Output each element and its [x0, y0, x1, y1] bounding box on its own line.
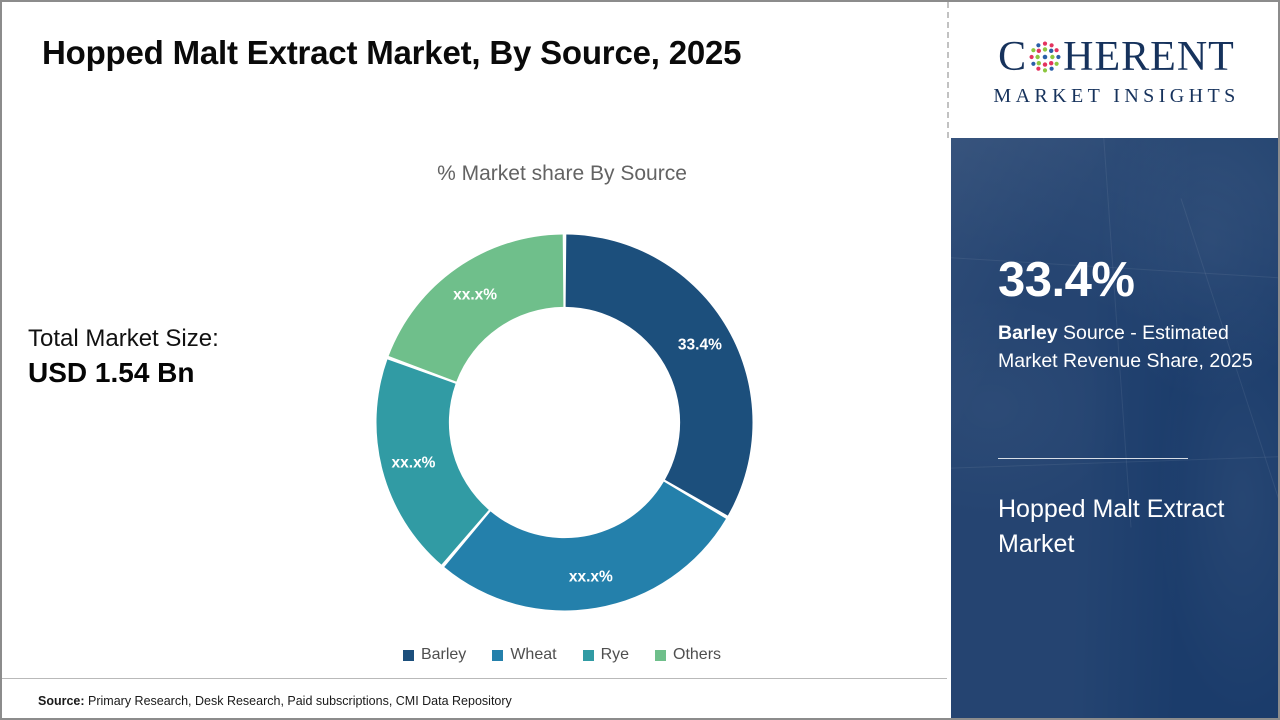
footer-source-label: Source: [38, 694, 85, 708]
donut-slices [377, 235, 753, 611]
right-sidebar: C [951, 2, 1280, 720]
stat-panel: 33.4% Barley Source - Estimated Market R… [951, 138, 1280, 720]
footer-source-text: Primary Research, Desk Research, Paid su… [85, 694, 512, 708]
donut-chart-svg: 33.4%xx.x%xx.x%xx.x% [372, 230, 757, 615]
legend-item-wheat[interactable]: Wheat [492, 646, 556, 664]
logo-word-part1: C [998, 36, 1027, 78]
donut-chart: 33.4%xx.x%xx.x%xx.x% [372, 230, 757, 615]
globe-icon [1028, 40, 1062, 74]
legend-label: Barley [421, 646, 466, 664]
legend-swatch-icon [403, 650, 414, 661]
stat-description-highlight: Barley [998, 322, 1058, 344]
page-title: Hopped Malt Extract Market, By Source, 2… [42, 34, 922, 72]
stat-description: Barley Source - Estimated Market Revenue… [998, 320, 1266, 375]
chart-legend: BarleyWheatRyeOthers [302, 646, 822, 664]
logo-wordmark-row: C [998, 33, 1235, 81]
legend-item-barley[interactable]: Barley [403, 646, 466, 664]
legend-item-others[interactable]: Others [655, 646, 721, 664]
legend-label: Others [673, 646, 721, 664]
donut-slice-label-barley: 33.4% [678, 337, 722, 354]
donut-slice-barley[interactable] [566, 235, 753, 516]
donut-slice-wheat[interactable] [444, 482, 726, 611]
total-market-size-label: Total Market Size: [28, 324, 328, 353]
total-market-size-value: USD 1.54 Bn [28, 355, 328, 391]
footer-divider [2, 678, 947, 679]
legend-swatch-icon [655, 650, 666, 661]
legend-label: Wheat [510, 646, 556, 664]
total-market-size-block: Total Market Size: USD 1.54 Bn [28, 324, 328, 392]
legend-item-rye[interactable]: Rye [583, 646, 629, 664]
donut-slice-label-rye: xx.x% [392, 454, 436, 471]
main-content-area: Hopped Malt Extract Market, By Source, 2… [2, 2, 947, 720]
chart-subtitle: % Market share By Source [302, 162, 822, 186]
brand-logo: C [951, 2, 1280, 138]
legend-swatch-icon [492, 650, 503, 661]
infographic-page: Hopped Malt Extract Market, By Source, 2… [0, 0, 1280, 720]
logo-subtitle: MARKET INSIGHTS [993, 85, 1239, 108]
market-name-label: Hopped Malt Extract Market [998, 492, 1253, 561]
footer-source-note: Source: Primary Research, Desk Research,… [38, 694, 512, 708]
donut-slice-others[interactable] [389, 235, 564, 382]
donut-slice-label-wheat: xx.x% [569, 568, 613, 585]
legend-swatch-icon [583, 650, 594, 661]
legend-label: Rye [601, 646, 629, 664]
donut-slice-label-others: xx.x% [453, 286, 497, 303]
logo-word-part2: HERENT [1063, 36, 1235, 78]
vertical-dashed-divider [947, 2, 949, 138]
stat-percentage: 33.4% [998, 256, 1134, 305]
stat-panel-divider [998, 458, 1188, 459]
